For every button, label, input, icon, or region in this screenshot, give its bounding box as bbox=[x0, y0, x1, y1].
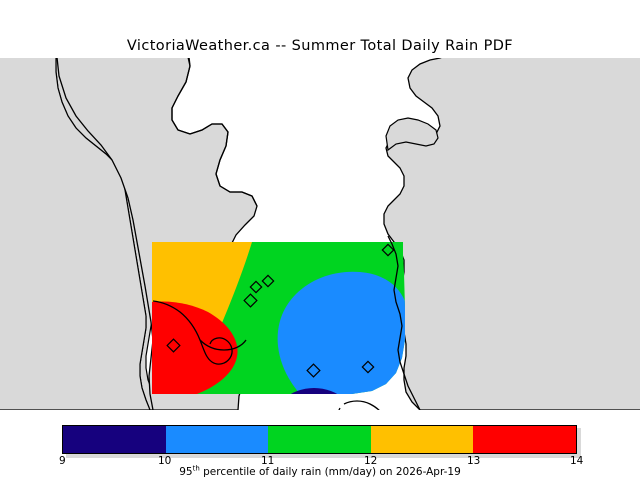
page-title: VictoriaWeather.ca -- Summer Total Daily… bbox=[0, 38, 640, 54]
colorbar-caption: 95th percentile of daily rain (mm/day) o… bbox=[0, 466, 640, 478]
colorbar-segment-11-12[interactable] bbox=[268, 426, 371, 453]
contour-field bbox=[140, 228, 430, 410]
colorbar-segment-9-10[interactable] bbox=[63, 426, 166, 453]
colorbar[interactable] bbox=[62, 425, 577, 454]
colorbar-segment-10-11[interactable] bbox=[166, 426, 269, 453]
map-panel[interactable] bbox=[0, 58, 640, 410]
colorbar-segment-12-13[interactable] bbox=[371, 426, 474, 453]
caption-number: 95 bbox=[179, 466, 192, 478]
colorbar-segment-13-14[interactable] bbox=[473, 426, 576, 453]
map-canvas[interactable] bbox=[0, 58, 640, 410]
caption-ordinal-suffix: th bbox=[193, 465, 200, 473]
colorbar-area: 9 10 11 12 13 14 95th percentile of dail… bbox=[0, 414, 640, 480]
caption-text: percentile of daily rain (mm/day) on 202… bbox=[200, 466, 461, 478]
weather-map-page: VictoriaWeather.ca -- Summer Total Daily… bbox=[0, 0, 640, 480]
